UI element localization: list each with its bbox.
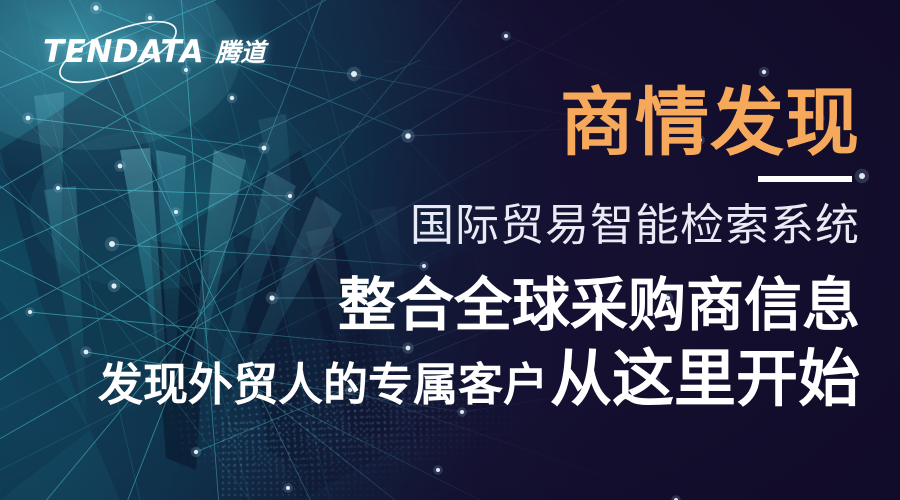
title-divider [758, 176, 852, 182]
tagline-secondary-small: 发现外贸人的专属客户 [98, 362, 548, 407]
page-subtitle: 国际贸易智能检索系统 [410, 200, 860, 252]
tendata-logo[interactable]: TENDATA 腾道 [40, 28, 272, 76]
page-title: 商情发现 [560, 86, 860, 160]
tagline-primary: 整合全球采购商信息 [338, 274, 860, 337]
tendata-promo-banner: TENDATA 腾道 商情发现 国际贸易智能检索系统 整合全球采购商信息 发现外… [0, 0, 900, 500]
copy-block: 商情发现 国际贸易智能检索系统 整合全球采购商信息 发现外贸人的专属客户 从这里… [340, 0, 860, 500]
tagline-secondary-big: 从这里开始 [550, 348, 860, 410]
tagline-secondary: 发现外贸人的专属客户 从这里开始 [98, 348, 860, 410]
logo-chinese-name: 腾道 [215, 40, 265, 65]
logo-wordmark: TENDATA [43, 37, 204, 68]
